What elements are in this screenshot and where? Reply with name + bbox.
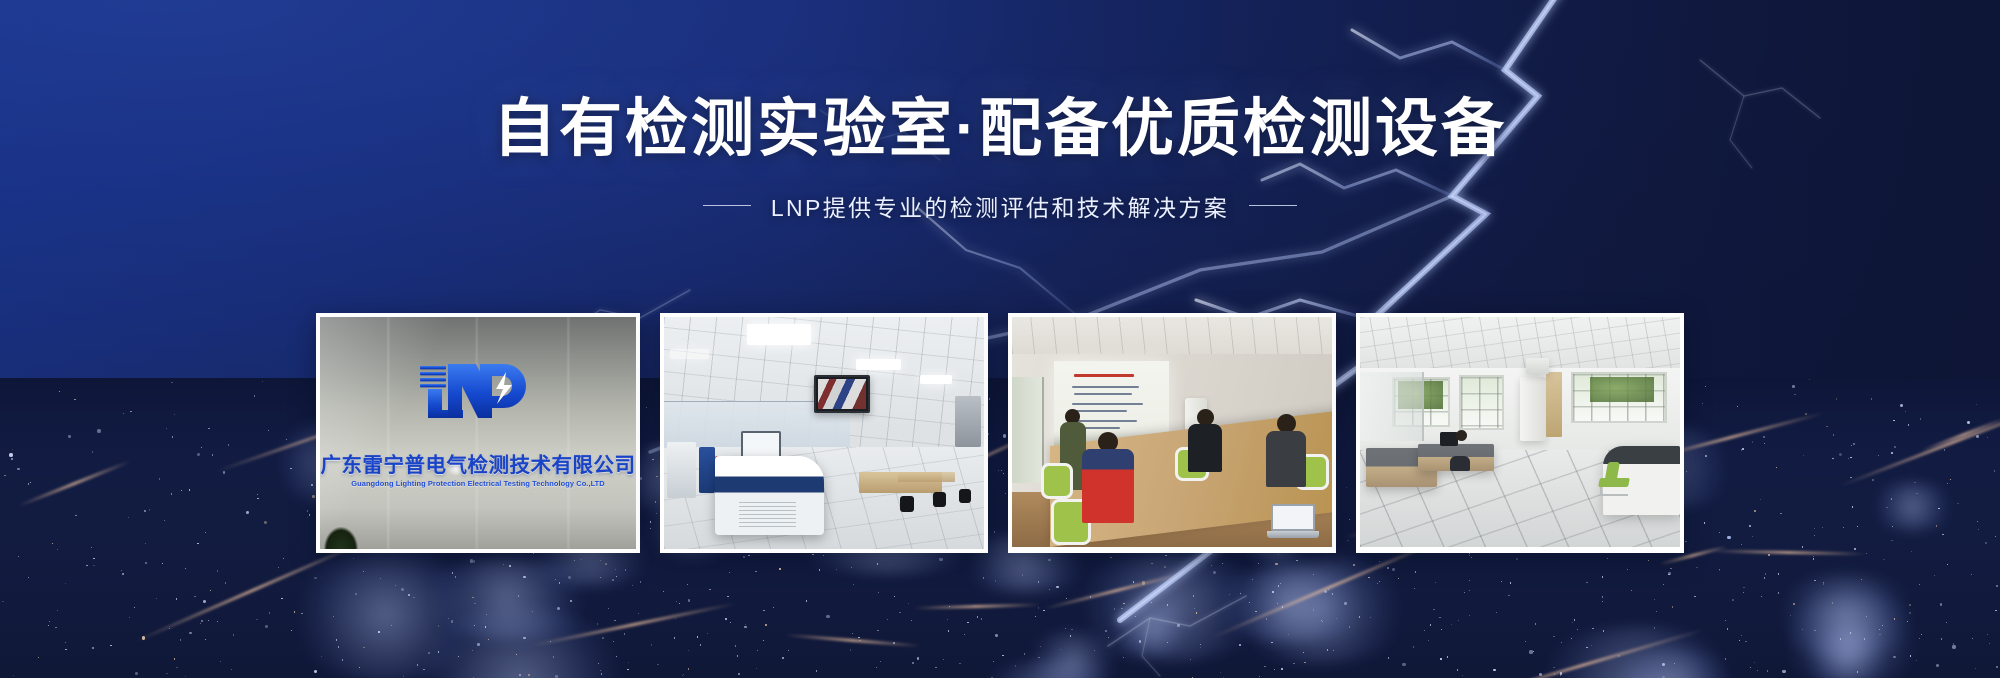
city-light-dot [1947, 483, 1948, 484]
city-light-dot [638, 613, 639, 614]
city-light-dot [166, 428, 167, 429]
city-light-dot [1743, 592, 1744, 593]
window-foliage [1590, 377, 1654, 402]
city-light-dot [166, 673, 167, 674]
city-light-dot [1441, 629, 1442, 630]
city-light-dot [1602, 601, 1603, 602]
city-light-dot [86, 565, 87, 566]
city-light-dot [262, 381, 263, 382]
city-light-dot [1462, 675, 1463, 676]
city-glow [1768, 575, 1924, 657]
city-light-dot [557, 607, 560, 610]
city-light-dot [602, 637, 603, 638]
city-light-dot [893, 642, 894, 643]
city-light-dot [185, 676, 186, 677]
lab-test-rig [667, 442, 696, 498]
city-light-dot [1987, 437, 1988, 438]
city-light-dot [254, 395, 255, 396]
city-light-dot [13, 675, 14, 676]
city-light-dot [1809, 379, 1810, 380]
city-light-dot [1905, 411, 1906, 412]
city-light-dot [455, 576, 456, 577]
city-light-dot [748, 555, 749, 556]
city-light-dot [142, 636, 145, 639]
city-light-dot [1919, 584, 1920, 585]
city-light-dot [1196, 612, 1197, 613]
city-light-dot [1891, 452, 1892, 453]
city-light-dot [1471, 557, 1472, 558]
city-light-dot [1656, 611, 1657, 612]
city-road-streak [914, 603, 1040, 609]
city-light-dot [1822, 527, 1823, 528]
laboratory-photo[interactable] [660, 313, 988, 553]
city-light-dot [836, 569, 837, 570]
city-light-dot [518, 595, 519, 596]
city-light-dot [145, 543, 146, 544]
city-light-dot [1139, 640, 1141, 642]
city-light-dot [601, 673, 602, 674]
slide-bullet [1072, 386, 1139, 388]
city-light-dot [1760, 499, 1761, 500]
city-light-dot [1586, 582, 1587, 583]
city-light-dot [580, 559, 581, 560]
city-light-dot [877, 630, 878, 631]
city-light-dot [1259, 676, 1260, 677]
city-light-dot [97, 429, 101, 433]
city-light-dot [1177, 624, 1180, 627]
city-light-dot [1428, 640, 1429, 641]
city-light-dot [878, 592, 879, 593]
city-light-dot [257, 494, 258, 495]
slide-bullet [1074, 393, 1132, 395]
city-light-dot [1743, 587, 1744, 588]
glass-partition [1360, 372, 1424, 441]
city-light-dot [162, 563, 163, 564]
city-light-dot [738, 673, 739, 674]
city-light-dot [1447, 656, 1448, 657]
city-light-dot [281, 598, 282, 599]
city-light-dot [135, 672, 138, 675]
city-light-dot [657, 664, 658, 665]
city-light-dot [185, 568, 186, 569]
city-light-dot [1879, 634, 1880, 635]
city-light-dot [1944, 449, 1945, 450]
city-light-dot [1402, 663, 1405, 666]
city-light-dot [1458, 620, 1459, 621]
company-name-english: Guangdong Lighting Protection Electrical… [351, 479, 604, 488]
city-light-dot [1886, 507, 1887, 508]
city-light-dot [203, 600, 206, 603]
city-light-dot [1602, 576, 1603, 577]
city-light-dot [851, 567, 852, 568]
city-light-dot [674, 637, 675, 638]
city-light-dot [688, 599, 691, 602]
attendee-person-middle [1188, 409, 1222, 478]
city-light-dot [1883, 559, 1884, 560]
city-road-streak [1840, 398, 2000, 487]
city-light-dot [737, 655, 738, 656]
city-light-dot [570, 600, 572, 602]
city-light-dot [899, 612, 900, 613]
office-photo[interactable] [1356, 313, 1684, 553]
city-light-dot [1493, 669, 1496, 672]
city-light-dot [850, 649, 851, 650]
city-light-dot [912, 662, 914, 664]
city-light-dot [744, 626, 747, 629]
office-scene [1360, 317, 1680, 547]
city-light-dot [1752, 441, 1753, 442]
divider-right-icon [1249, 205, 1297, 206]
city-light-dot [18, 556, 19, 557]
city-light-dot [28, 577, 29, 578]
plant-decor [324, 527, 358, 549]
city-light-dot [528, 674, 530, 676]
city-light-dot [1451, 624, 1452, 625]
city-light-dot [1618, 655, 1619, 656]
city-light-dot [1469, 615, 1470, 616]
city-light-dot [959, 663, 960, 664]
city-light-dot [977, 616, 978, 617]
city-light-dot [1761, 596, 1762, 597]
city-light-dot [1768, 554, 1769, 555]
city-light-dot [1696, 567, 1697, 568]
city-light-dot [314, 577, 316, 579]
city-light-dot [1496, 612, 1497, 613]
city-light-dot [1836, 398, 1837, 399]
city-light-dot [676, 601, 677, 602]
lab-chair [959, 489, 971, 503]
city-light-dot [1764, 443, 1765, 444]
city-light-dot [144, 510, 145, 511]
city-light-dot [779, 568, 780, 569]
slide-title-bar [1074, 374, 1134, 377]
city-light-dot [1439, 617, 1440, 618]
city-light-dot [1313, 609, 1314, 610]
city-light-dot [887, 619, 888, 620]
city-light-dot [212, 454, 213, 455]
city-light-dot [1978, 529, 1979, 530]
city-light-dot [757, 650, 758, 651]
city-light-dot [28, 483, 29, 484]
city-light-dot [1592, 628, 1593, 629]
city-light-dot [130, 411, 131, 412]
attendee-person-right [1266, 414, 1306, 492]
attendee-person-red [1082, 432, 1134, 538]
office-photo-image [1360, 317, 1680, 547]
laboratory-photo-image [664, 317, 984, 549]
city-light-dot [189, 489, 190, 490]
city-light-dot [1833, 434, 1834, 435]
city-light-dot [309, 514, 310, 515]
city-light-dot [948, 630, 950, 632]
city-light-dot [38, 657, 39, 658]
lab-work-desk [898, 472, 956, 481]
city-light-dot [1814, 535, 1815, 536]
city-light-dot [1891, 540, 1892, 541]
city-light-dot [743, 556, 745, 558]
city-light-dot [123, 413, 124, 414]
city-light-dot [1749, 525, 1750, 526]
city-light-dot [176, 667, 177, 668]
city-light-dot [1388, 657, 1389, 658]
city-light-dot [1813, 558, 1814, 559]
city-light-dot [853, 584, 854, 585]
city-light-dot [1002, 655, 1003, 656]
city-light-dot [201, 620, 202, 621]
city-light-dot [205, 532, 206, 533]
city-light-dot [640, 581, 641, 582]
meeting-ceiling [1012, 317, 1332, 354]
meeting-room-scene [1012, 317, 1332, 547]
city-light-dot [1996, 585, 1997, 586]
city-light-dot [1851, 445, 1852, 446]
city-light-dot [342, 659, 343, 660]
city-light-dot [1938, 508, 1939, 509]
city-light-dot [159, 478, 160, 479]
city-light-dot [181, 490, 182, 491]
office-window [1459, 375, 1504, 430]
city-light-dot [727, 596, 728, 597]
city-light-dot [755, 571, 756, 572]
city-light-dot [1995, 536, 1996, 537]
company-sign-photo[interactable]: 广东雷宁普电气检测技术有限公司 Guangdong Lighting Prote… [316, 313, 640, 553]
city-light-dot [1977, 521, 1978, 522]
city-light-dot [1909, 604, 1911, 606]
city-light-dot [145, 562, 146, 563]
city-light-dot [624, 633, 625, 634]
city-light-dot [49, 621, 50, 622]
city-light-dot [1685, 541, 1686, 542]
city-light-dot [1872, 479, 1873, 480]
city-light-dot [210, 590, 211, 591]
city-light-dot [614, 620, 615, 621]
city-light-dot [92, 647, 93, 648]
city-light-dot [1952, 645, 1955, 648]
city-light-dot [408, 594, 409, 595]
city-light-dot [228, 444, 229, 445]
city-light-dot [1229, 594, 1230, 595]
city-light-dot [278, 567, 279, 568]
city-light-dot [208, 620, 209, 621]
city-light-dot [1920, 418, 1921, 419]
city-light-dot [1950, 479, 1951, 480]
city-light-dot [485, 626, 486, 627]
city-light-dot [1572, 622, 1573, 623]
city-light-dot [1727, 628, 1728, 629]
city-light-dot [1894, 618, 1895, 619]
city-light-dot [233, 634, 234, 635]
city-light-dot [1934, 575, 1935, 576]
city-light-dot [756, 668, 757, 669]
city-light-dot [477, 643, 480, 646]
city-glow [1867, 482, 1958, 531]
city-light-dot [1304, 662, 1305, 663]
city-light-dot [1668, 572, 1671, 575]
city-light-dot [1946, 622, 1947, 623]
meeting-room-photo[interactable] [1008, 313, 1336, 553]
city-light-dot [1719, 570, 1720, 571]
city-light-dot [1941, 638, 1942, 639]
city-light-dot [1535, 623, 1536, 624]
city-light-dot [197, 543, 198, 544]
city-light-dot [220, 661, 221, 662]
city-glow [287, 548, 484, 678]
city-light-dot [200, 623, 201, 624]
city-light-dot [1871, 398, 1872, 399]
city-light-dot [1737, 406, 1738, 407]
city-light-dot [1893, 420, 1894, 421]
city-light-dot [470, 559, 473, 562]
city-light-dot [967, 622, 968, 623]
city-road-streak [785, 634, 921, 648]
city-light-dot [4, 475, 5, 476]
city-light-dot [1379, 561, 1380, 562]
city-light-dot [1413, 646, 1414, 647]
city-light-dot [859, 640, 860, 641]
city-light-dot [1533, 651, 1534, 652]
city-light-dot [707, 633, 708, 634]
city-light-dot [265, 625, 268, 628]
city-light-dot [1826, 426, 1827, 427]
lab-chair [933, 492, 946, 507]
city-light-dot [378, 631, 379, 632]
city-light-dot [30, 482, 31, 483]
city-light-dot [1745, 641, 1746, 642]
city-light-dot [1911, 551, 1912, 552]
city-light-dot [735, 645, 736, 646]
city-light-dot [688, 668, 689, 669]
bookshelf [1546, 372, 1562, 436]
city-light-dot [1754, 662, 1755, 663]
city-light-dot [709, 589, 710, 590]
lab-chair [900, 496, 914, 512]
city-light-dot [1464, 592, 1465, 593]
city-light-dot [57, 610, 58, 611]
city-light-dot [1972, 638, 1973, 639]
city-light-dot [1066, 598, 1067, 599]
city-light-dot [1936, 525, 1937, 526]
city-light-dot [1864, 638, 1865, 639]
city-light-dot [129, 617, 130, 618]
city-light-dot [451, 620, 453, 622]
city-light-dot [74, 399, 75, 400]
city-light-dot [1603, 630, 1604, 631]
city-light-dot [1843, 527, 1844, 528]
city-light-dot [1501, 581, 1502, 582]
city-light-dot [763, 610, 764, 611]
city-light-dot [1893, 656, 1896, 659]
city-light-dot [1793, 603, 1794, 604]
city-light-dot [627, 669, 628, 670]
city-light-dot [355, 593, 356, 594]
city-light-dot [1415, 571, 1416, 572]
city-light-dot [1727, 536, 1730, 539]
city-light-dot [651, 644, 652, 645]
city-light-dot [1765, 573, 1766, 574]
city-light-dot [149, 509, 150, 510]
city-light-dot [1803, 455, 1804, 456]
city-light-dot [197, 453, 201, 457]
city-light-dot [1741, 635, 1742, 636]
city-light-dot [1767, 670, 1768, 671]
city-light-dot [1894, 446, 1896, 448]
city-light-dot [336, 639, 337, 640]
city-light-dot [164, 520, 165, 521]
city-light-dot [438, 651, 439, 652]
city-light-dot [1414, 588, 1415, 589]
photo-gallery: 广东雷宁普电气检测技术有限公司 Guangdong Lighting Prote… [316, 313, 1684, 553]
city-light-dot [1852, 506, 1853, 507]
city-light-dot [1900, 404, 1903, 407]
city-light-dot [1275, 563, 1277, 565]
city-light-dot [943, 659, 944, 660]
city-light-dot [605, 563, 606, 564]
city-light-dot [876, 667, 877, 668]
lab-cabinet [955, 396, 981, 447]
city-light-dot [1123, 603, 1124, 604]
page-subtitle: LNP提供专业的检测评估和技术解决方案 [771, 189, 1229, 223]
city-light-dot [312, 495, 315, 498]
lab-control-console [715, 456, 824, 535]
city-light-dot [1194, 608, 1195, 609]
city-light-dot [268, 430, 269, 431]
city-light-dot [1525, 641, 1526, 642]
city-light-dot [2, 601, 3, 602]
city-light-dot [1670, 568, 1671, 569]
city-light-dot [172, 436, 173, 437]
city-light-dot [223, 471, 225, 473]
lab-light-panel [856, 359, 901, 371]
city-light-dot [311, 484, 312, 485]
city-light-dot [1663, 584, 1664, 585]
city-light-dot [12, 449, 13, 450]
city-light-dot [128, 517, 129, 518]
office-ceiling [1360, 317, 1680, 368]
city-light-dot [1850, 477, 1851, 478]
city-light-dot [1778, 592, 1779, 593]
city-light-dot [75, 515, 76, 516]
city-light-dot [1780, 513, 1781, 514]
city-light-dot [1574, 619, 1575, 620]
city-light-dot [1433, 609, 1434, 610]
city-light-dot [1398, 578, 1399, 579]
city-light-dot [1353, 564, 1354, 565]
city-light-dot [1850, 457, 1851, 458]
city-light-dot [1705, 386, 1706, 387]
sign-wall-surface [320, 317, 636, 549]
city-light-dot [1891, 498, 1892, 499]
city-light-dot [1989, 643, 1990, 644]
city-light-dot [773, 607, 774, 608]
city-light-dot [321, 656, 322, 657]
city-light-dot [995, 634, 999, 638]
city-light-dot [65, 649, 66, 650]
city-light-dot [1440, 658, 1441, 659]
city-light-dot [1435, 582, 1436, 583]
city-light-dot [523, 576, 526, 579]
city-light-dot [122, 573, 123, 574]
city-light-dot [1985, 542, 1987, 544]
city-light-dot [1190, 659, 1191, 660]
city-light-dot [1805, 413, 1806, 414]
city-light-dot [452, 572, 453, 573]
city-light-dot [1220, 672, 1221, 673]
city-light-dot [1878, 455, 1879, 456]
city-light-dot [509, 565, 510, 566]
city-light-dot [1940, 603, 1943, 606]
office-chair [1599, 462, 1629, 496]
city-light-dot [171, 493, 172, 494]
